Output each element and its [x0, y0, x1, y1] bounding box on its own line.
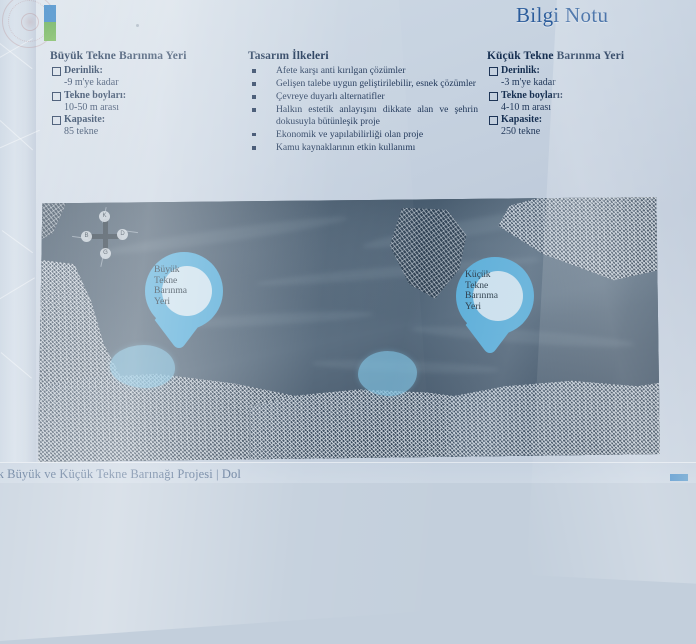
spec-key: Tekne boyları: [52, 90, 240, 101]
list-item: Halkın estetik anlayışını dikkate alan v… [248, 104, 478, 127]
list-item: Kamu kaynaklarının etkin kullanımı [248, 142, 478, 154]
spec-key: Kapasite: [489, 114, 682, 125]
map-pin-kucuk-tekne[interactable]: Küçük Tekne Barınma Yeri [456, 257, 534, 349]
spec-value: 250 tekne [501, 126, 682, 137]
spec-key: Tekne boyları: [489, 90, 682, 101]
compass-north-label: K [99, 211, 110, 222]
spec-key: Kapasite: [52, 114, 240, 125]
project-map: K D G B Büyük Tekne Barınma Yeri Küçük T… [38, 197, 660, 462]
column-heading: Büyük Tekne Barınma Yeri [50, 50, 240, 62]
spec-value: 4-10 m arası [501, 102, 682, 113]
list-item: Çevreye duyarlı alternatifler [248, 91, 478, 103]
corner-logo-mark-icon [670, 474, 688, 481]
pin-label: Küçük Tekne Barınma Yeri [465, 270, 533, 312]
marina-highlight-kucuk [358, 351, 417, 396]
principles-list: Afete karşı anti kırılgan çözümler Geliş… [248, 65, 478, 154]
spec-value: -3 m'ye kadar [501, 77, 682, 88]
spec-list: Derinlik: -3 m'ye kadar Tekne boyları: 4… [487, 65, 682, 137]
column-heading: Küçük Tekne Barınma Yeri [487, 50, 682, 62]
dust-speck [136, 24, 139, 27]
caption-text: ık Büyük ve Küçük Tekne Barınağı Projesi… [0, 467, 414, 482]
spec-key: Derinlik: [52, 65, 240, 76]
spec-value: 85 tekne [64, 126, 240, 137]
list-item: Ekonomik ve yapılabilirliği olan proje [248, 129, 478, 141]
spec-key: Derinlik: [489, 65, 682, 76]
panel-left-edge [0, 0, 36, 483]
map-canvas: K D G B Büyük Tekne Barınma Yeri Küçük T… [38, 197, 660, 462]
column-kucuk-tekne: Küçük Tekne Barınma Yeri Derinlik: -3 m'… [487, 50, 682, 137]
caption: ık Büyük ve Küçük Tekne Barınağı Projesi… [0, 467, 414, 483]
spec-value: -9 m'ye kadar [64, 77, 240, 88]
map-pin-buyuk-tekne[interactable]: Büyük Tekne Barınma Yeri [145, 252, 223, 344]
spec-list: Derinlik: -9 m'ye kadar Tekne boyları: 1… [50, 65, 240, 137]
column-buyuk-tekne: Büyük Tekne Barınma Yeri Derinlik: -9 m'… [50, 50, 240, 137]
logo-mark-icon [44, 5, 56, 41]
spec-value: 10-50 m arası [64, 102, 240, 113]
compass-west-label: B [81, 231, 92, 242]
pin-label: Büyük Tekne Barınma Yeri [154, 265, 222, 307]
list-item: Afete karşı anti kırılgan çözümler [248, 65, 478, 77]
compass-east-label: D [117, 229, 128, 240]
compass-south-label: G [100, 248, 111, 259]
compass-rose-icon: K D G B [82, 213, 128, 259]
page-title: Bilgi Notu [516, 3, 608, 28]
list-item: Gelişen talebe uygun geliştirilebilir, e… [248, 78, 478, 90]
column-tasarim-ilkeleri: Tasarım İlkeleri Afete karşı anti kırılg… [248, 50, 478, 155]
information-board: Bilgi Notu Büyük Tekne Barınma Yeri Deri… [0, 0, 696, 483]
marina-highlight-buyuk [110, 345, 175, 387]
column-heading: Tasarım İlkeleri [248, 50, 478, 62]
